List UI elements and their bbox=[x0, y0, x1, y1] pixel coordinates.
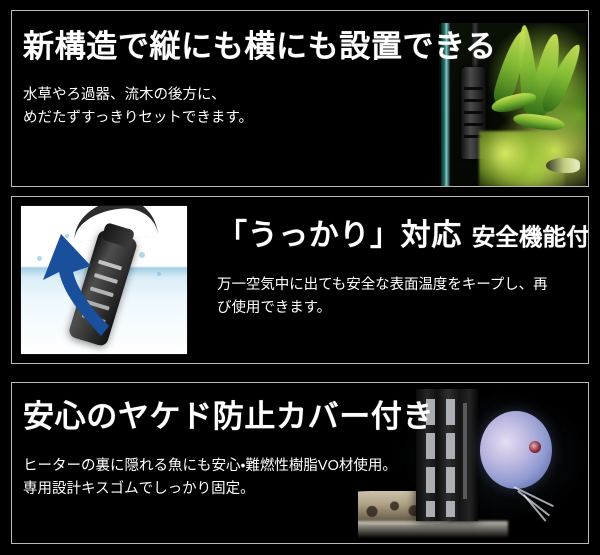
water-droplet bbox=[139, 252, 145, 258]
body-line: 水草やろ過器、流木の後方に、 bbox=[23, 84, 497, 107]
headline-main: 「うっかり」対応 bbox=[217, 219, 462, 252]
cover-slot bbox=[463, 403, 467, 499]
panel-cover-text: 安心のヤケド防止カバー付き ヒーターの裏に隠れる魚にも安心・難燃性樹脂VO材使用… bbox=[23, 401, 434, 502]
body-line: 万一空気中に出ても安全な表面温度をキープし、再 bbox=[217, 274, 589, 297]
discus-fish bbox=[480, 411, 552, 489]
cover-slot bbox=[446, 501, 455, 517]
plant-leaf bbox=[512, 111, 565, 132]
panel-installation-text: 新構造で縦にも横にも設置できる 水草やろ過器、流木の後方に、 めだたずすっきりセ… bbox=[23, 31, 497, 131]
headline-sub: 安全機能付 bbox=[472, 224, 589, 250]
panel-safety-text: 「うっかり」対応安全機能付 万一空気中に出ても安全な表面温度をキープし、再 び使… bbox=[217, 221, 589, 321]
body-line: めだたずすっきりセットできます。 bbox=[23, 107, 497, 130]
water-droplet bbox=[157, 272, 161, 276]
feature-panel-safety: 「うっかり」対応安全機能付 万一空気中に出ても安全な表面温度をキープし、再 び使… bbox=[11, 196, 589, 364]
cover-slot bbox=[426, 501, 435, 517]
panel-installation-body: 水草やろ過器、流木の後方に、 めだたずすっきりセットできます。 bbox=[23, 84, 497, 131]
headline-main: 安心のヤケド防止カバー付き bbox=[23, 399, 434, 434]
cover-slot bbox=[446, 467, 455, 493]
panel-cover-body: ヒーターの裏に隠れる魚にも安心・難燃性樹脂VO材使用。 専用設計キスゴムでしっか… bbox=[23, 455, 434, 502]
panel-cover-headline: 安心のヤケド防止カバー付き bbox=[23, 401, 434, 432]
panel-safety-headline: 「うっかり」対応安全機能付 bbox=[217, 221, 589, 251]
upward-arrow-icon bbox=[39, 232, 117, 338]
feature-panel-cover: 安心のヤケド防止カバー付き ヒーターの裏に隠れる魚にも安心・難燃性樹脂VO材使用… bbox=[11, 382, 589, 544]
aquarium-fish bbox=[546, 158, 580, 173]
body-line: ヒーターの裏に隠れる魚にも安心・難燃性樹脂VO材使用。 bbox=[23, 455, 434, 478]
fish-eye bbox=[529, 441, 541, 453]
product-feature-ad: 新構造で縦にも横にも設置できる 水草やろ過器、流木の後方に、 めだたずすっきりセ… bbox=[0, 0, 600, 555]
panel-safety-body: 万一空気中に出ても安全な表面温度をキープし、再 び使用できます。 bbox=[217, 274, 589, 321]
panel-installation-headline: 新構造で縦にも横にも設置できる bbox=[23, 31, 497, 62]
cover-slot bbox=[446, 433, 455, 459]
body-line: 専用設計キスゴムでしっかり固定。 bbox=[23, 478, 434, 501]
body-line: び使用できます。 bbox=[217, 297, 589, 320]
headline-main: 新構造で縦にも横にも設置できる bbox=[23, 29, 497, 64]
cover-slot bbox=[446, 399, 455, 425]
aquarium-substrate bbox=[358, 521, 508, 537]
heater-out-of-water-photo bbox=[20, 205, 188, 355]
feature-panel-installation: 新構造で縦にも横にも設置できる 水草やろ過器、流木の後方に、 めだたずすっきりセ… bbox=[11, 10, 589, 187]
